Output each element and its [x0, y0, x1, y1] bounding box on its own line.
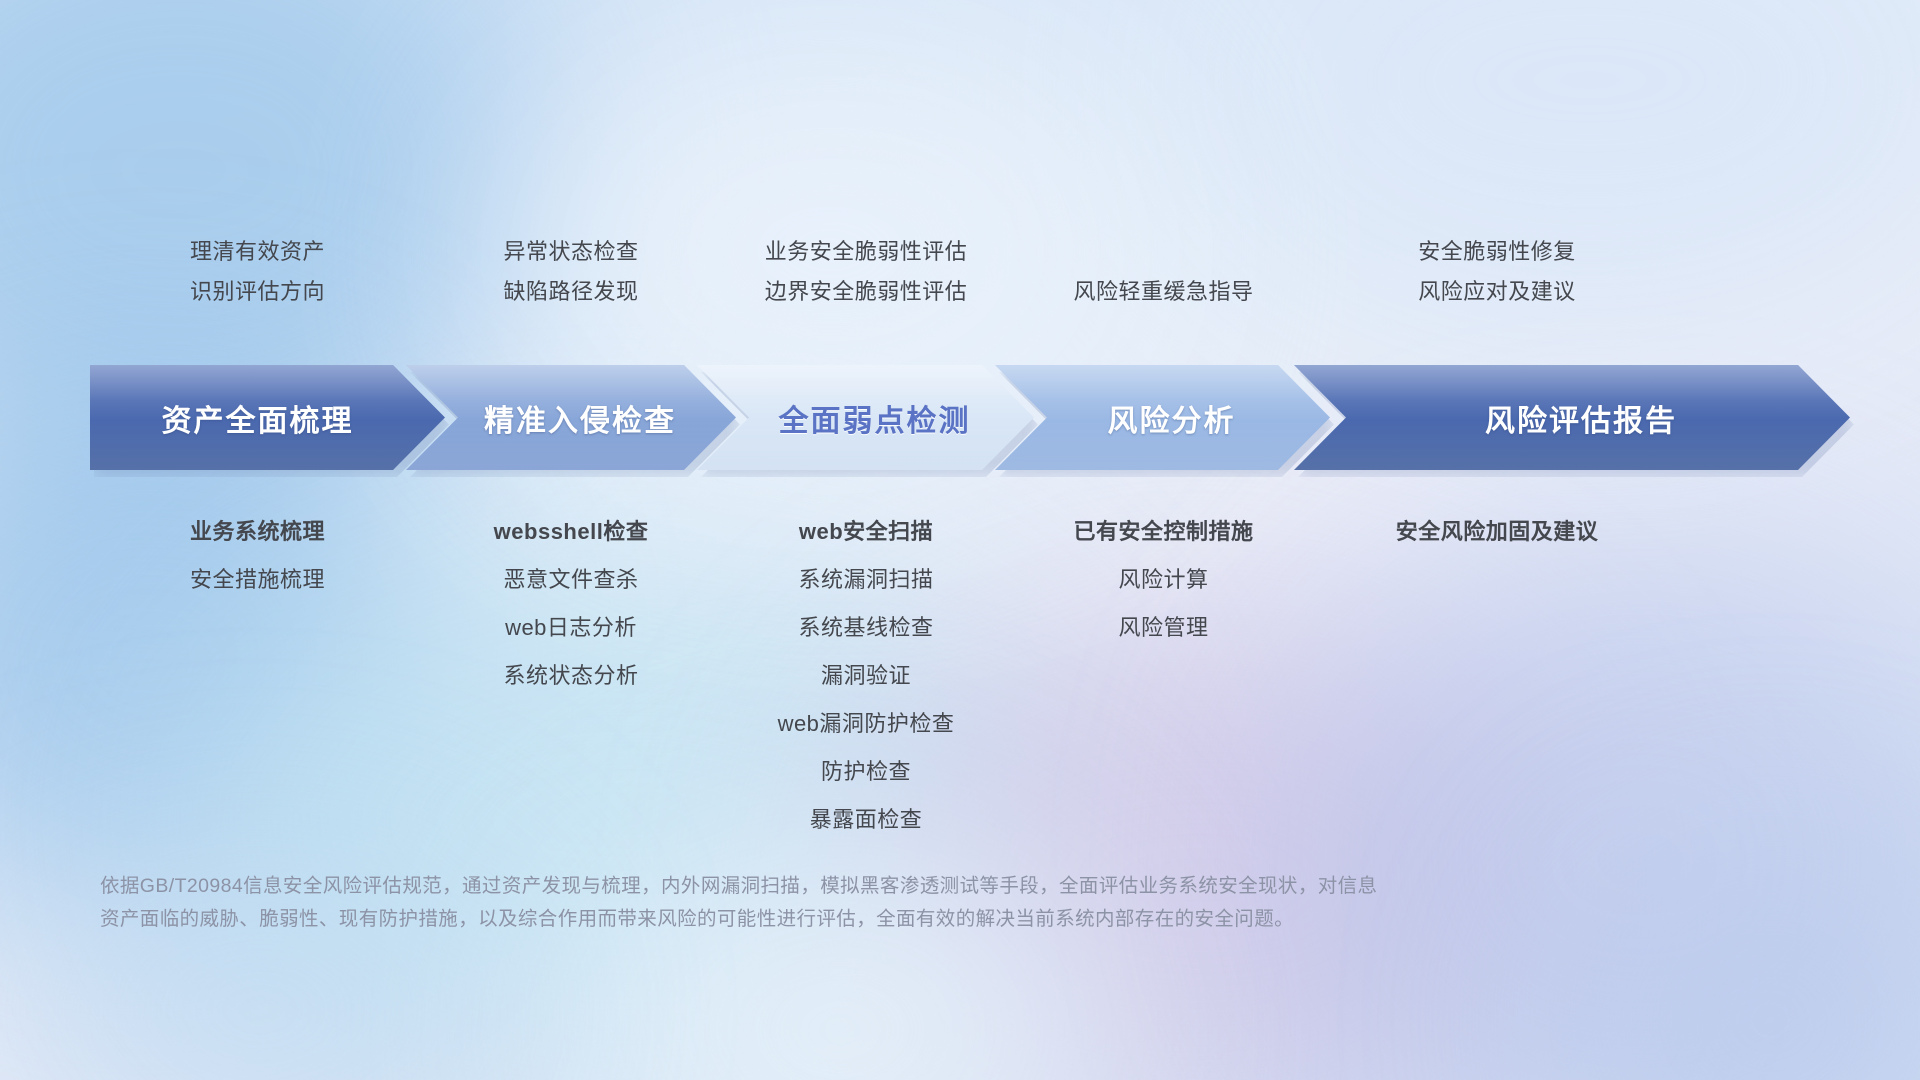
note-item: 边界安全脆弱性评估: [765, 272, 968, 312]
note-item: 安全风险加固及建议: [1396, 508, 1599, 556]
notes-column-intrusion-check: 异常状态检查缺陷路径发现: [425, 232, 717, 312]
footer-line-2: 资产面临的威胁、脆弱性、现有防护措施，以及综合作用而带来风险的可能性进行评估，全…: [100, 903, 1720, 936]
process-step-intrusion-check[interactable]: 精准入侵检查: [406, 365, 736, 470]
note-item: web安全扫描: [799, 508, 933, 556]
process-step-label: 资产全面梳理: [162, 396, 354, 440]
notes-column-risk-analysis: 已有安全控制措施风险计算风险管理: [1015, 508, 1312, 652]
note-item: 系统漏洞扫描: [798, 556, 933, 604]
note-item: web漏洞防护检查: [778, 700, 955, 748]
note-item: 系统状态分析: [503, 652, 638, 700]
process-step-label: 精准入侵检查: [484, 396, 676, 440]
note-item: 识别评估方向: [190, 272, 325, 312]
process-chevron-band: 资产全面梳理精准入侵检查全面弱点检测风险分析风险评估报告: [90, 365, 1850, 470]
note-item: 安全脆弱性修复: [1418, 232, 1576, 272]
note-item: 防护检查: [821, 748, 911, 796]
process-step-risk-report[interactable]: 风险评估报告: [1294, 365, 1850, 470]
note-item: 风险应对及建议: [1418, 272, 1576, 312]
note-item: 风险轻重缓急指导: [1073, 272, 1253, 312]
note-item: 已有安全控制措施: [1073, 508, 1253, 556]
note-item: 业务系统梳理: [190, 508, 325, 556]
process-step-weakness-detection[interactable]: 全面弱点检测: [697, 365, 1034, 470]
note-item: 漏洞验证: [821, 652, 911, 700]
note-item: 恶意文件查杀: [503, 556, 638, 604]
process-step-label: 风险评估报告: [1485, 396, 1677, 440]
note-item: 系统基线检查: [798, 604, 933, 652]
process-step-risk-analysis[interactable]: 风险分析: [995, 365, 1330, 470]
notes-column-risk-report: 安全脆弱性修复风险应对及建议: [1312, 232, 1682, 312]
notes-column-risk-report: 安全风险加固及建议: [1312, 508, 1682, 556]
notes-column-weakness-detection: 业务安全脆弱性评估边界安全脆弱性评估: [717, 232, 1015, 312]
note-item: 安全措施梳理: [190, 556, 325, 604]
notes-column-weakness-detection: web安全扫描系统漏洞扫描系统基线检查漏洞验证web漏洞防护检查防护检查暴露面检…: [717, 508, 1015, 844]
note-item: 异常状态检查: [503, 232, 638, 272]
footer-description: 依据GB/T20984信息安全风险评估规范，通过资产发现与梳理，内外网漏洞扫描，…: [100, 870, 1720, 936]
notes-column-intrusion-check: websshell检查恶意文件查杀web日志分析系统状态分析: [425, 508, 717, 700]
note-item: 缺陷路径发现: [503, 272, 638, 312]
note-item: 理清有效资产: [190, 232, 325, 272]
note-item: websshell检查: [494, 508, 649, 556]
process-step-label: 全面弱点检测: [779, 396, 971, 440]
note-item: 风险管理: [1118, 604, 1208, 652]
notes-column-asset-inventory: 业务系统梳理安全措施梳理: [90, 508, 425, 604]
notes-column-risk-analysis: 风险轻重缓急指导: [1015, 232, 1312, 312]
notes-column-asset-inventory: 理清有效资产识别评估方向: [90, 232, 425, 312]
process-step-asset-inventory[interactable]: 资产全面梳理: [90, 365, 445, 470]
footer-line-1: 依据GB/T20984信息安全风险评估规范，通过资产发现与梳理，内外网漏洞扫描，…: [100, 870, 1720, 903]
note-item: web日志分析: [505, 604, 637, 652]
note-item: 暴露面检查: [810, 796, 923, 844]
process-diagram: 理清有效资产识别评估方向异常状态检查缺陷路径发现业务安全脆弱性评估边界安全脆弱性…: [0, 0, 1920, 1080]
note-item: 风险计算: [1118, 556, 1208, 604]
note-item: 业务安全脆弱性评估: [765, 232, 968, 272]
process-step-label: 风险分析: [1108, 396, 1236, 440]
